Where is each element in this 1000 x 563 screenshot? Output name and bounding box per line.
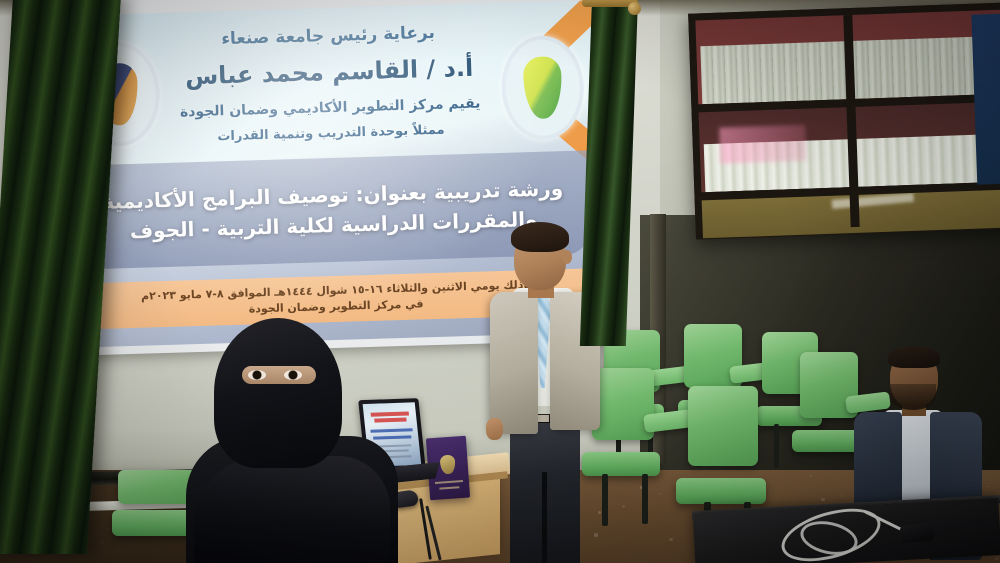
floor-speck [669, 538, 672, 541]
ear [562, 250, 572, 264]
glass-door-bookcase [688, 2, 1000, 239]
seated-woman-attendee [186, 318, 406, 563]
floor-speck [821, 498, 825, 502]
glass-reflection [719, 125, 806, 164]
eye [284, 370, 302, 380]
slide-host-line: برعاية رئيس جامعة صنعاء [64, 18, 592, 54]
floor-speck [810, 475, 812, 477]
beard [890, 384, 936, 410]
left-hand [486, 418, 503, 440]
suit-jacket-left [490, 292, 538, 434]
bookcase-side-panel [971, 14, 1000, 185]
abaya-shoulders [194, 456, 390, 563]
curtain-rod-finial-icon [628, 2, 641, 15]
trouser-leg-gap [542, 472, 547, 563]
hair [511, 222, 569, 252]
table-object [899, 522, 935, 543]
floor-speck [840, 495, 842, 497]
folder-emblem-icon [440, 455, 456, 475]
eye [248, 370, 266, 380]
photograph-scene: برعاية رئيس جامعة صنعاء أ.د / القاسم محم… [0, 0, 1000, 563]
belt-buckle [538, 415, 549, 422]
hair [888, 346, 940, 368]
niqab-veil [214, 318, 342, 468]
